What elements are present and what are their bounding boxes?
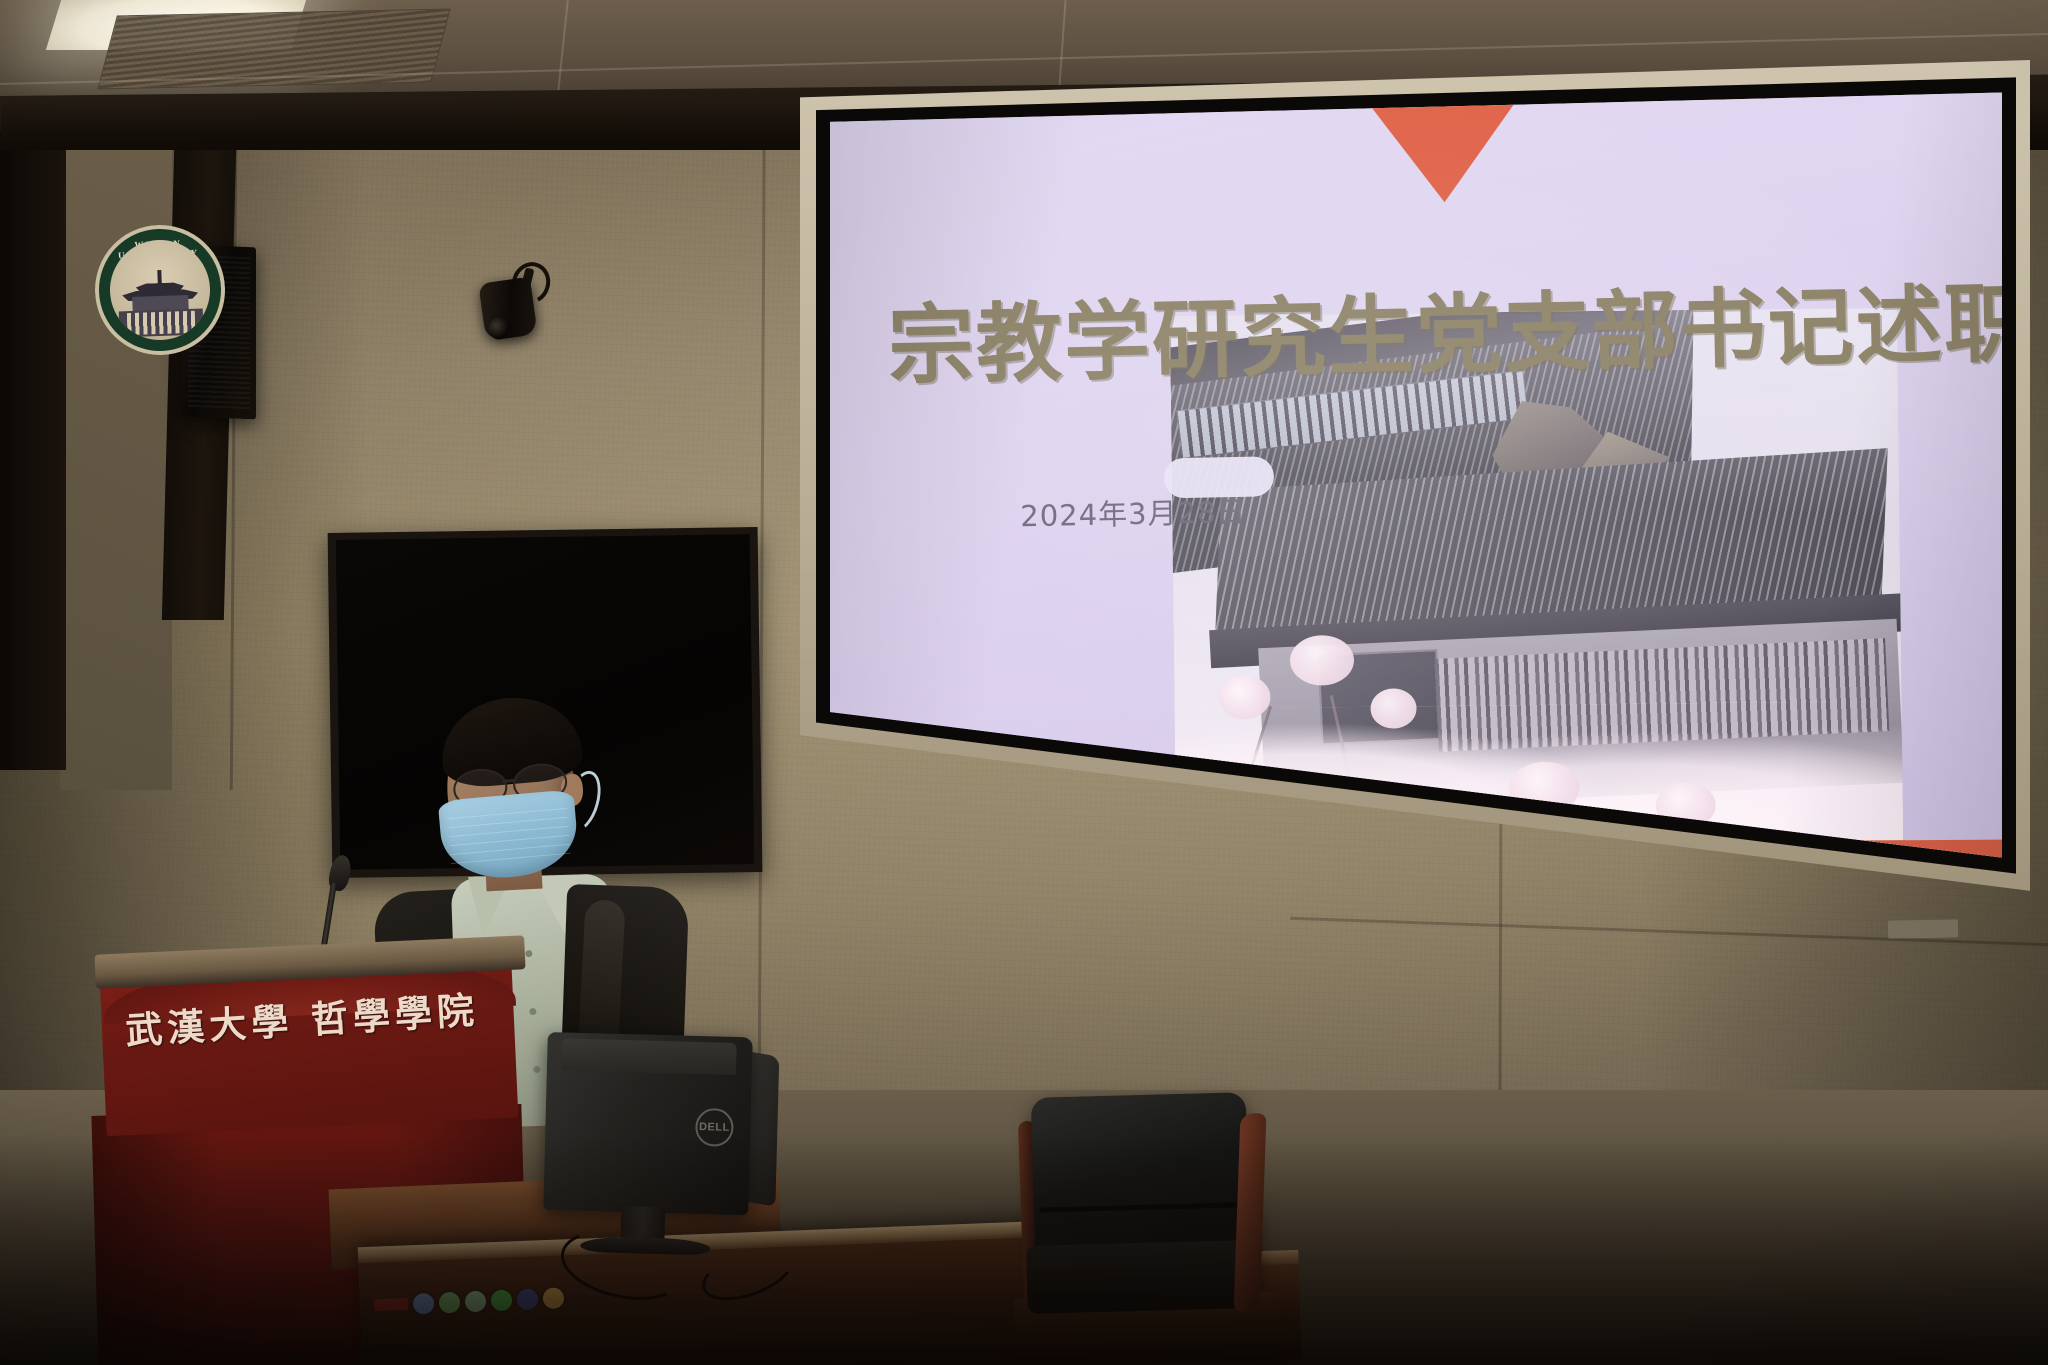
wall-dark-edge [0,150,66,770]
face-mask [438,789,581,883]
lecture-hall-scene: 宗教学研究生党支部书记述职 2024年3月28日 [0,0,2048,1365]
chair-seat [1026,1240,1253,1314]
slide-bottom-band-dark [830,846,1281,900]
camera-lens [487,316,510,341]
shirt-button [533,1066,540,1073]
control-button-blue[interactable] [413,1292,435,1314]
projection-screen: 宗教学研究生党支部书记述职 2024年3月28日 [800,60,2030,930]
slide-content: 宗教学研究生党支部书记述职 2024年3月28日 [830,86,2002,900]
control-button-teal[interactable] [465,1290,487,1312]
shirt-button [529,1008,536,1015]
ceiling-surveillance-camera [482,262,552,340]
screen-brand-plate [1888,919,1958,938]
leather-chair[interactable] [1015,1095,1290,1365]
camera-body [478,277,538,342]
control-button-green[interactable] [439,1291,461,1313]
chair-frame-right [1234,1113,1267,1314]
control-button-lime[interactable] [491,1289,513,1311]
monitor-top-edge [561,1038,737,1075]
seal-columns [127,311,196,335]
slide-date: 2024年3月28日 [1020,489,1247,536]
projected-slide: 宗教学研究生党支部书记述职 2024年3月28日 [830,86,2002,900]
seal-library-building-icon [117,273,203,338]
control-button-navy[interactable] [517,1288,539,1310]
shirt-button [525,950,532,957]
control-button-amber[interactable] [543,1287,565,1309]
dell-monitor[interactable]: DELL [542,1032,778,1253]
slide-title: 宗教学研究生党支部书记述职 [887,253,2002,401]
control-panel-label [374,1298,408,1311]
